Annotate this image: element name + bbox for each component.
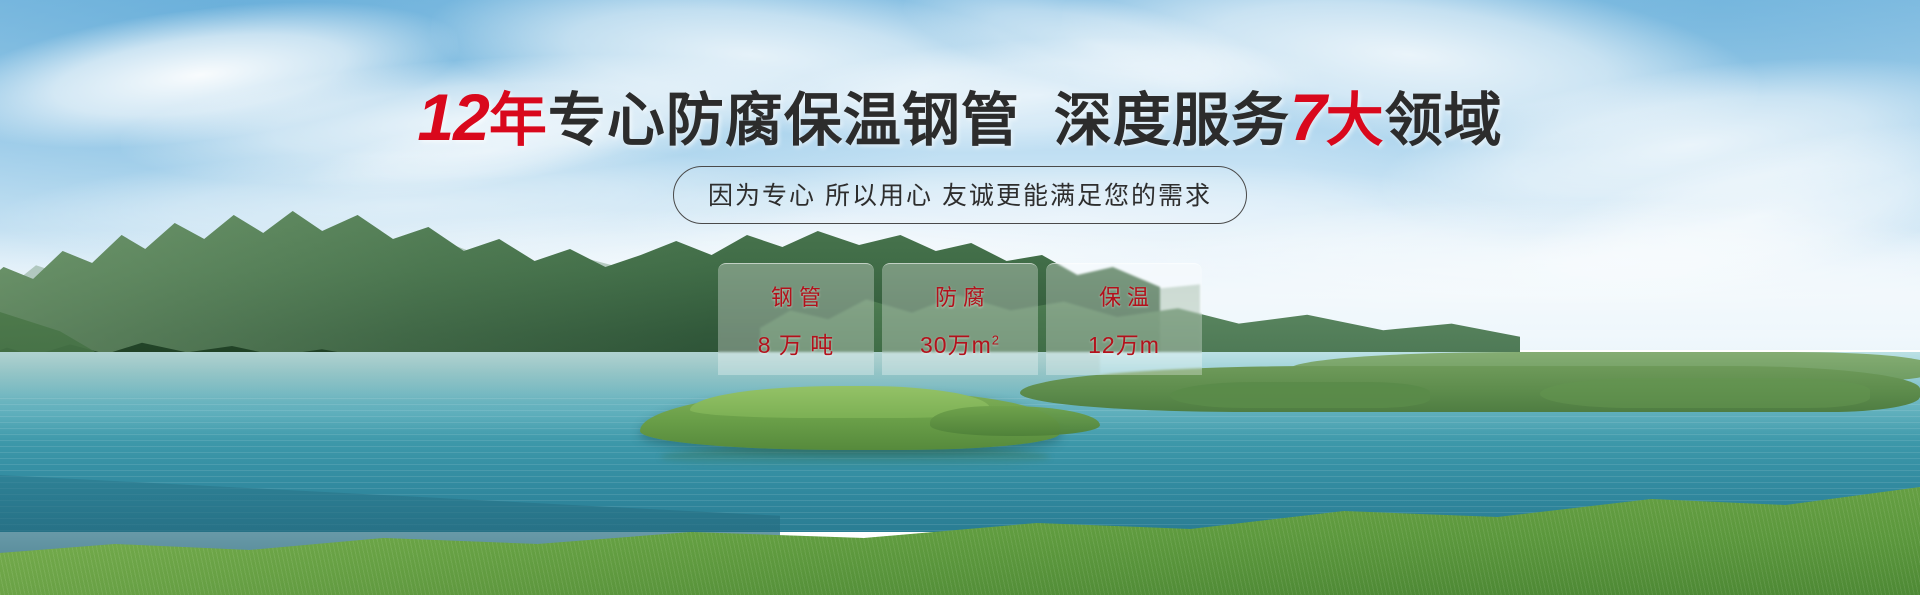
- stat-card-value-main: 30万m: [920, 332, 992, 358]
- stat-card-insulation: 保温 12万m: [1046, 263, 1202, 375]
- stat-card-value-main: 8 万 吨: [758, 332, 835, 358]
- stat-card-value: 30万m2: [920, 326, 1000, 360]
- headline-fields-unit: 大: [1326, 88, 1385, 153]
- stat-card-value: 8 万 吨: [758, 326, 835, 360]
- headline-segment-main: 专心防腐保温钢管: [548, 88, 1020, 153]
- stat-card-label: 保温: [1093, 280, 1155, 312]
- headline-segment-fields: 领域: [1385, 88, 1503, 153]
- headline-years-number: 12: [417, 80, 488, 154]
- stat-cards: 钢管 8 万 吨 防腐 30万m2 保温 12万m: [0, 263, 1920, 375]
- headline: 12年专心防腐保温钢管深度服务7大领域: [0, 84, 1920, 150]
- stat-card-label: 防腐: [929, 280, 991, 312]
- stat-card-value-superscript: 2: [992, 332, 1000, 347]
- headline-fields-number: 7: [1290, 80, 1326, 154]
- banner-content: 12年专心防腐保温钢管深度服务7大领域 因为专心 所以用心 友诚更能满足您的需求…: [0, 0, 1920, 595]
- stat-card-steel-pipe: 钢管 8 万 吨: [718, 263, 874, 375]
- stat-card-value: 12万m: [1088, 326, 1160, 360]
- stat-card-value-main: 12万m: [1088, 332, 1160, 358]
- stat-card-anticorrosion: 防腐 30万m2: [882, 263, 1038, 375]
- promotional-banner: 12年专心防腐保温钢管深度服务7大领域 因为专心 所以用心 友诚更能满足您的需求…: [0, 0, 1920, 595]
- headline-years-unit: 年: [489, 88, 548, 153]
- stat-card-label: 钢管: [765, 280, 827, 312]
- subtitle-pill: 因为专心 所以用心 友诚更能满足您的需求: [673, 166, 1247, 224]
- subtitle-container: 因为专心 所以用心 友诚更能满足您的需求: [0, 166, 1920, 224]
- headline-segment-service: 深度服务: [1054, 88, 1290, 153]
